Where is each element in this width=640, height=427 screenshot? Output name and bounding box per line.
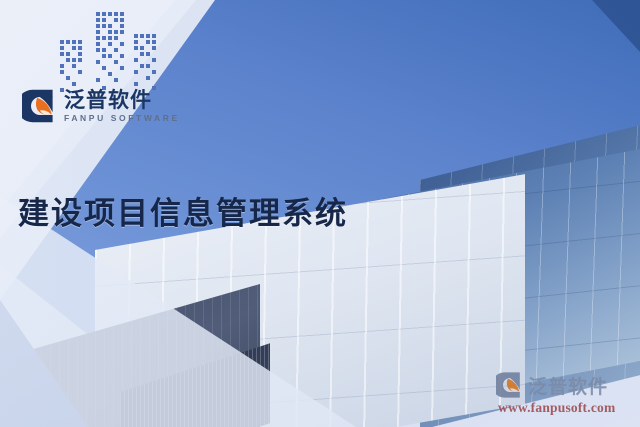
watermark-url: www.fanpusoft.com [498, 400, 615, 416]
brand-name-en: FANPU SOFTWARE [64, 114, 180, 123]
brand-lockup: 泛普软件 FANPU SOFTWARE [22, 88, 180, 124]
brand-name-cn: 泛普软件 [64, 90, 180, 111]
page-title: 建设项目信息管理系统 [18, 188, 348, 233]
pixel-skyline-icon [38, 4, 168, 96]
watermark-logo-row: 泛普软件 [496, 371, 608, 399]
fanpu-watermark-logo-icon [496, 371, 524, 399]
watermark-name-cn: 泛普软件 [528, 372, 608, 399]
brand-wordmark: 泛普软件 FANPU SOFTWARE [64, 90, 180, 123]
watermark: 泛普软件 www.fanpusoft.com [496, 371, 615, 416]
promo-banner: 泛普软件 FANPU SOFTWARE 建设项目信息管理系统 泛普软件 www.… [0, 0, 640, 427]
fanpu-logo-icon [22, 88, 58, 124]
